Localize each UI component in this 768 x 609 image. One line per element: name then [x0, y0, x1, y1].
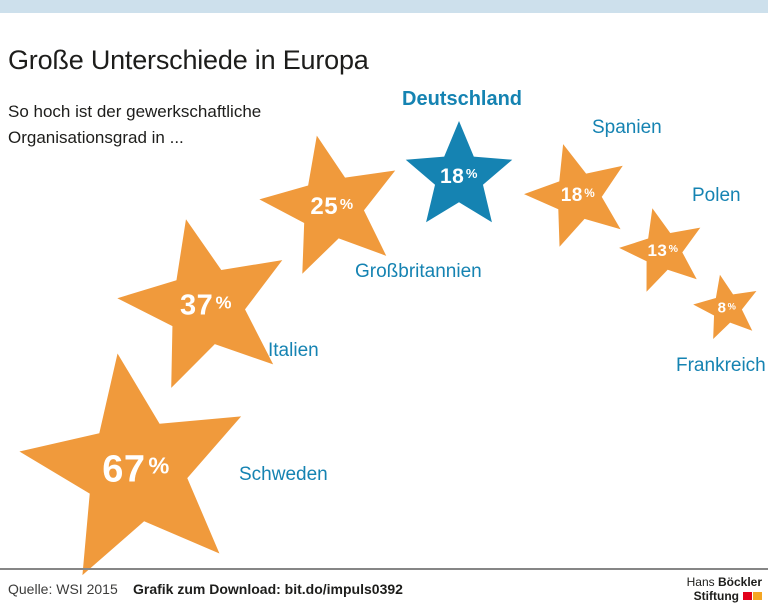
logo-line-2: Stiftung: [687, 589, 762, 603]
logo-name-bold: Böckler: [718, 575, 762, 589]
country-label-frankreich: Frankreich: [676, 355, 766, 377]
country-label-spanien: Spanien: [592, 117, 662, 139]
star-deutschland: 18%: [401, 119, 517, 235]
download-text: Grafik zum Download: bit.do/impuls0392: [133, 581, 403, 597]
star-shape-icon: [691, 272, 763, 344]
star-shape-icon: [257, 132, 407, 282]
footer: Quelle: WSI 2015 Grafik zum Download: bi…: [0, 570, 768, 609]
star-shape-icon: [401, 119, 517, 235]
star-grobritannien: 25%: [257, 132, 407, 282]
hans-boeckler-stiftung-logo: Hans Böckler Stiftung: [687, 575, 762, 603]
logo-name-regular: Hans: [687, 575, 715, 589]
star-frankreich: 8%: [691, 272, 763, 344]
country-label-grobritannien: Großbritannien: [355, 261, 482, 283]
source-text: Quelle: WSI 2015: [8, 581, 118, 597]
logo-line-1: Hans Böckler: [687, 575, 762, 589]
country-label-polen: Polen: [692, 185, 741, 207]
star-chart-plot: 67%Schweden37%Italien25%Großbritannien18…: [0, 0, 768, 568]
infographic-page: Große Unterschiede in Europa So hoch ist…: [0, 0, 768, 609]
country-label-deutschland: Deutschland: [402, 88, 522, 111]
logo-subname: Stiftung: [694, 589, 739, 603]
country-label-italien: Italien: [268, 340, 319, 362]
logo-flag-bars-icon: [743, 592, 762, 600]
country-label-schweden: Schweden: [239, 464, 328, 486]
